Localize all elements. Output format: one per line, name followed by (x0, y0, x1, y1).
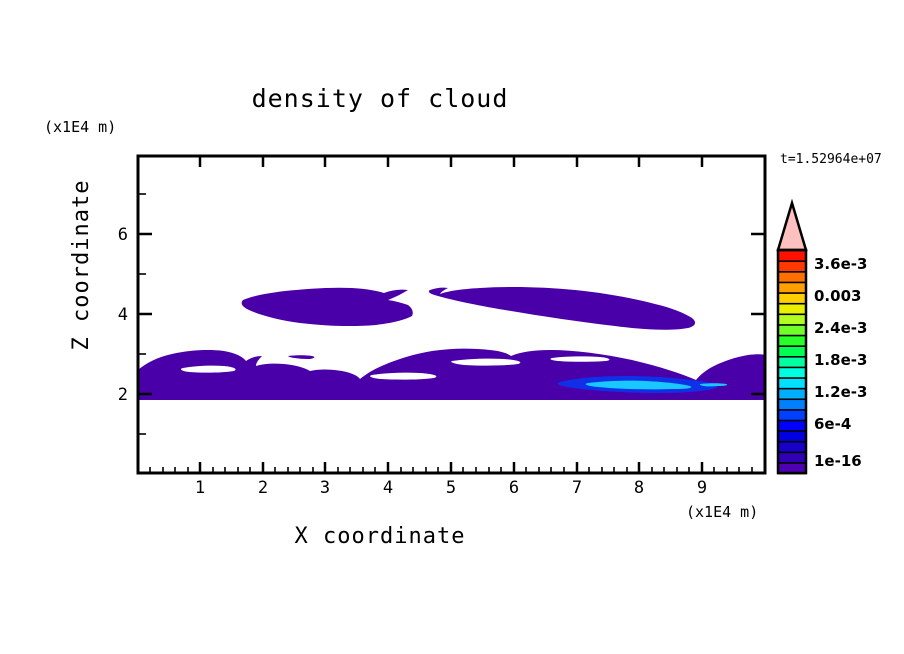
colorbar-band (778, 409, 806, 420)
colorbar-band (778, 335, 806, 346)
colorbar-tick-label: 1.8e-3 (814, 351, 867, 369)
colorbar-band (778, 314, 806, 325)
colorbar-bands (778, 250, 806, 474)
colorbar-band (778, 282, 806, 293)
colorbar-band (778, 452, 806, 463)
colorbar-band (778, 441, 806, 452)
colorbar-tick-label: 0.003 (814, 287, 861, 305)
colorbar-band (778, 261, 806, 272)
colorbar (0, 0, 904, 654)
colorbar-band (778, 250, 806, 261)
colorbar-band (778, 367, 806, 378)
colorbar-band (778, 388, 806, 399)
colorbar-band (778, 420, 806, 431)
colorbar-band (778, 399, 806, 410)
colorbar-band (778, 377, 806, 388)
colorbar-tick-label: 1e-16 (814, 452, 862, 470)
colorbar-tick-label: 2.4e-3 (814, 319, 867, 337)
figure-canvas: density of cloud (x1E4 m) (x1E4 m) t=1.5… (0, 0, 904, 654)
colorbar-band (778, 356, 806, 367)
colorbar-band (778, 431, 806, 442)
colorbar-band (778, 303, 806, 314)
colorbar-band (778, 346, 806, 357)
colorbar-tick-label: 6e-4 (814, 415, 851, 433)
colorbar-overflow-cap (778, 203, 806, 250)
colorbar-tick-label: 3.6e-3 (814, 255, 867, 273)
colorbar-tick-label: 1.2e-3 (814, 383, 867, 401)
colorbar-band (778, 271, 806, 282)
colorbar-band (778, 292, 806, 303)
colorbar-band (778, 324, 806, 335)
